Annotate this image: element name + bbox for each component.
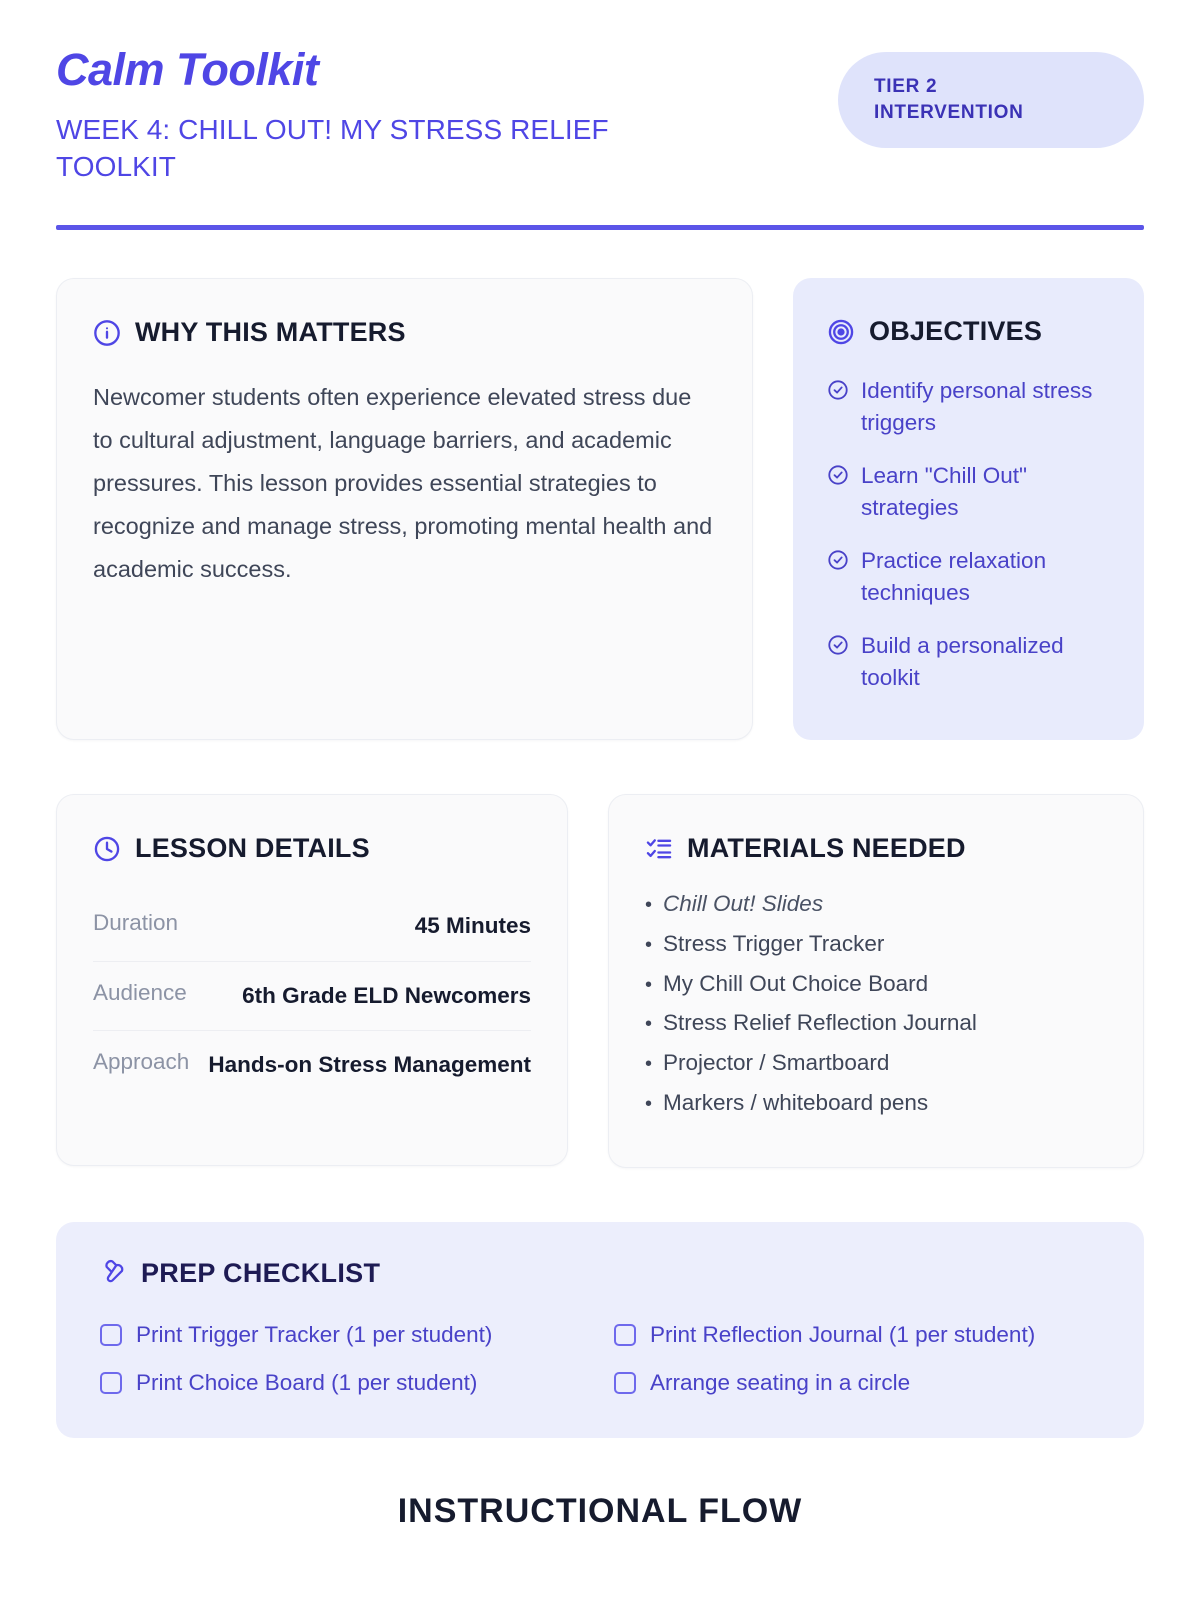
material-text: Stress Trigger Tracker (663, 932, 884, 957)
bullet-icon: • (645, 895, 652, 915)
objective-text: Practice relaxation techniques (861, 545, 1114, 608)
checklist-icon (645, 835, 673, 863)
detail-label: Audience (93, 980, 187, 1006)
why-card-body: Newcomer students often experience eleva… (93, 376, 716, 591)
wrench-icon (100, 1258, 127, 1290)
material-item: • Stress Trigger Tracker (645, 932, 1107, 957)
prep-item-label: Print Trigger Tracker (1 per student) (136, 1322, 492, 1348)
prep-item-label: Print Reflection Journal (1 per student) (650, 1322, 1035, 1348)
materials-needed-card: MATERIALS NEEDED • Chill Out! Slides • S… (608, 794, 1144, 1168)
material-item: • Stress Relief Reflection Journal (645, 1011, 1107, 1036)
objectives-list: Identify personal stress triggers Learn … (827, 375, 1114, 693)
objective-item: Learn "Chill Out" strategies (827, 460, 1114, 523)
prep-checklist-header: PREP CHECKLIST (100, 1258, 1100, 1290)
detail-value: 6th Grade ELD Newcomers (242, 980, 531, 1013)
check-circle-icon (827, 549, 849, 571)
prep-checklist-item[interactable]: Print Choice Board (1 per student) (100, 1370, 614, 1396)
clock-icon (93, 835, 121, 863)
prep-checklist-item[interactable]: Print Trigger Tracker (1 per student) (100, 1322, 614, 1348)
check-circle-icon (827, 379, 849, 401)
materials-header: MATERIALS NEEDED (645, 833, 1107, 864)
objectives-card-title: OBJECTIVES (869, 316, 1042, 347)
lesson-plan-page: Calm Toolkit WEEK 4: CHILL OUT! MY STRES… (0, 0, 1200, 1600)
checkbox-icon[interactable] (614, 1324, 636, 1346)
detail-value: Hands-on Stress Management (208, 1049, 531, 1082)
material-item: • Projector / Smartboard (645, 1051, 1107, 1076)
prep-checklist-item[interactable]: Arrange seating in a circle (614, 1370, 1100, 1396)
material-item: • Markers / whiteboard pens (645, 1091, 1107, 1116)
objective-item: Practice relaxation techniques (827, 545, 1114, 608)
check-circle-icon (827, 464, 849, 486)
why-this-matters-card: WHY THIS MATTERS Newcomer students often… (56, 278, 753, 740)
detail-value: 45 Minutes (415, 910, 531, 943)
detail-label: Duration (93, 910, 178, 936)
instructional-flow-heading: INSTRUCTIONAL FLOW (56, 1492, 1144, 1531)
details-materials-row: LESSON DETAILS Duration 45 Minutes Audie… (56, 794, 1144, 1168)
header-divider-rule (56, 225, 1144, 230)
lesson-details-header: LESSON DETAILS (93, 833, 531, 864)
objective-item: Identify personal stress triggers (827, 375, 1114, 438)
material-text: My Chill Out Choice Board (663, 972, 928, 997)
check-circle-icon (827, 634, 849, 656)
objective-text: Build a personalized toolkit (861, 630, 1114, 693)
prep-checklist-item[interactable]: Print Reflection Journal (1 per student) (614, 1322, 1100, 1348)
material-item: • My Chill Out Choice Board (645, 972, 1107, 997)
header-text-block: Calm Toolkit WEEK 4: CHILL OUT! MY STRES… (56, 46, 706, 186)
material-text: Chill Out! Slides (663, 892, 823, 917)
detail-row: Duration 45 Minutes (93, 892, 531, 962)
prep-checklist-grid: Print Trigger Tracker (1 per student) Pr… (100, 1322, 1100, 1396)
objective-text: Learn "Chill Out" strategies (861, 460, 1114, 523)
objective-text: Identify personal stress triggers (861, 375, 1114, 438)
lesson-details-card: LESSON DETAILS Duration 45 Minutes Audie… (56, 794, 568, 1166)
tier-badge: TIER 2 INTERVENTION (838, 52, 1144, 148)
objectives-card-header: OBJECTIVES (827, 316, 1114, 347)
checkbox-icon[interactable] (614, 1372, 636, 1394)
bullet-icon: • (645, 975, 652, 995)
tier-badge-line-2: INTERVENTION (874, 100, 1108, 126)
lesson-details-title: LESSON DETAILS (135, 833, 370, 864)
material-text: Projector / Smartboard (663, 1051, 889, 1076)
why-card-title: WHY THIS MATTERS (135, 317, 406, 348)
overview-row: WHY THIS MATTERS Newcomer students often… (56, 278, 1144, 740)
objectives-card: OBJECTIVES Identify personal stress trig… (793, 278, 1144, 740)
materials-list: • Chill Out! Slides • Stress Trigger Tra… (645, 892, 1107, 1116)
detail-row: Approach Hands-on Stress Management (93, 1031, 531, 1090)
prep-item-label: Print Choice Board (1 per student) (136, 1370, 477, 1396)
prep-checklist-title: PREP CHECKLIST (141, 1258, 380, 1289)
material-item: • Chill Out! Slides (645, 892, 1107, 917)
objective-item: Build a personalized toolkit (827, 630, 1114, 693)
page-header: Calm Toolkit WEEK 4: CHILL OUT! MY STRES… (56, 0, 1144, 186)
material-text: Stress Relief Reflection Journal (663, 1011, 977, 1036)
materials-title: MATERIALS NEEDED (687, 833, 966, 864)
checkbox-icon[interactable] (100, 1372, 122, 1394)
tier-badge-line-1: TIER 2 (874, 74, 1108, 100)
bullet-icon: • (645, 1054, 652, 1074)
bullet-icon: • (645, 1014, 652, 1034)
page-title: Calm Toolkit (56, 46, 706, 95)
bullet-icon: • (645, 1094, 652, 1114)
prep-checklist-card: PREP CHECKLIST Print Trigger Tracker (1 … (56, 1222, 1144, 1438)
detail-row: Audience 6th Grade ELD Newcomers (93, 962, 531, 1032)
checkbox-icon[interactable] (100, 1324, 122, 1346)
info-circle-icon (93, 319, 121, 347)
prep-item-label: Arrange seating in a circle (650, 1370, 910, 1396)
target-icon (827, 318, 855, 346)
why-card-header: WHY THIS MATTERS (93, 317, 716, 348)
bullet-icon: • (645, 935, 652, 955)
page-subtitle: WEEK 4: CHILL OUT! MY STRESS RELIEF TOOL… (56, 111, 706, 187)
material-text: Markers / whiteboard pens (663, 1091, 928, 1116)
detail-label: Approach (93, 1049, 189, 1075)
